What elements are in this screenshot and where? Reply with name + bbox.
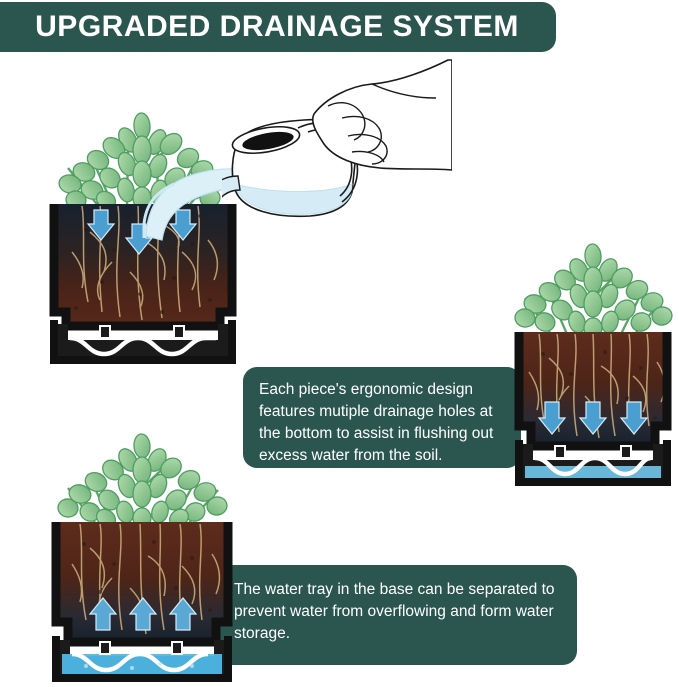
title-banner: Upgraded Drainage System <box>0 2 556 52</box>
water-flow-arrows-down-2 <box>539 402 647 434</box>
water-flow-arrows-up-3 <box>90 598 196 630</box>
callout-drainage-holes: Each piece's ergonomic design features m… <box>243 367 521 468</box>
callout-1-text: Each piece's ergonomic design features m… <box>259 379 505 467</box>
callout-2-text: The water tray in the base can be separa… <box>234 579 561 645</box>
planter-2-svg <box>505 240 679 492</box>
watering-can-svg <box>222 58 452 243</box>
page-title: Upgraded Drainage System <box>11 10 519 44</box>
infographic-canvas: Upgraded Drainage System <box>0 0 679 680</box>
callout-water-tray: The water tray in the base can be separa… <box>218 565 577 665</box>
planter-illustration-2 <box>505 240 679 492</box>
watering-can-with-hand <box>222 58 452 243</box>
planter-3-svg <box>42 430 244 682</box>
plant-foliage-2 <box>514 243 674 338</box>
planter-illustration-3 <box>42 430 244 682</box>
plant-foliage-3 <box>57 433 229 530</box>
